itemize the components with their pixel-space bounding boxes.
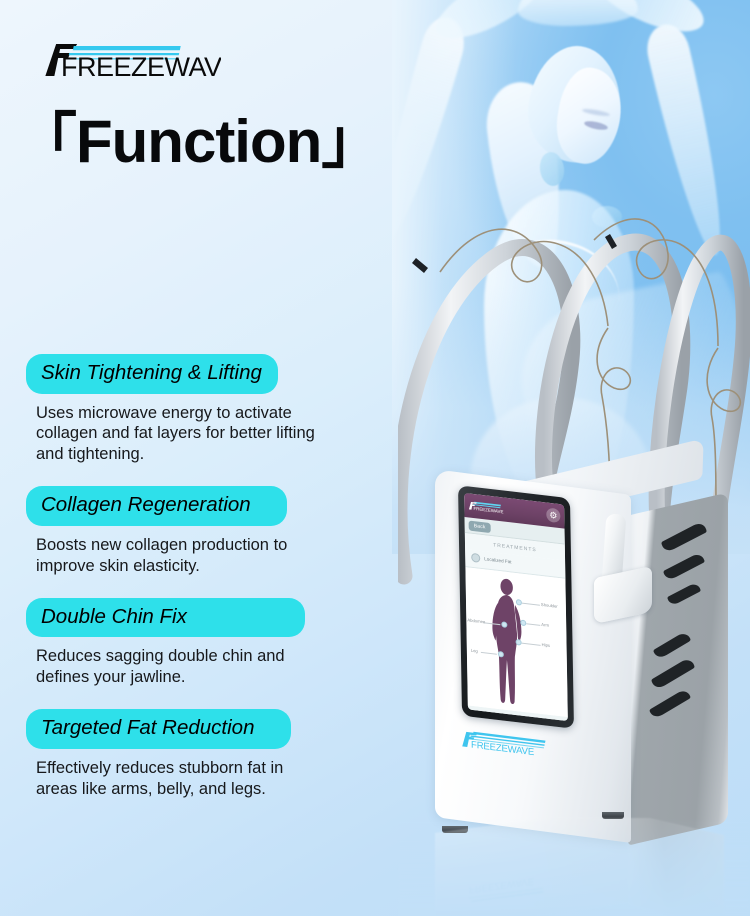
feature-description-targeted-fat-reduction: Effectively reduces stubborn fat in area… <box>26 758 316 800</box>
body-point-abdomen[interactable] <box>501 621 507 628</box>
back-button[interactable]: Back <box>469 520 491 533</box>
body-point-leg[interactable] <box>498 651 504 658</box>
freezewave-logo-svg: FREEZEWAVE <box>31 40 221 80</box>
logo-line-1 <box>73 46 181 50</box>
body-label-abdomen: Abdomen <box>467 617 485 624</box>
feature-item-double-chin-fix: Double Chin Fix Reduces sagging double c… <box>26 598 356 688</box>
freezewave-device: FREEZEWAVE ⚙ Back TREATMENTS Localized F… <box>398 196 750 916</box>
page-title: 「Function」 <box>17 112 380 172</box>
screen-freezewave-logo: FREEZEWAVE <box>468 499 506 515</box>
treatment-list-item-label: Localized Fat <box>484 556 511 564</box>
feature-description-double-chin-fix: Reduces sagging double chin and defines … <box>26 646 316 688</box>
logo-wordmark: FREEZEWAVE <box>61 52 221 80</box>
feature-badge-targeted-fat-reduction: Targeted Fat Reduction <box>26 709 291 749</box>
vent-slot <box>649 688 691 721</box>
feature-badge-double-chin-fix: Double Chin Fix <box>26 598 305 638</box>
gear-icon[interactable]: ⚙ <box>546 507 560 523</box>
device-touchscreen[interactable]: FREEZEWAVE ⚙ Back TREATMENTS Localized F… <box>464 493 568 721</box>
feature-badge-skin-tightening-lifting: Skin Tightening & Lifting <box>26 354 278 394</box>
vent-slot <box>661 520 707 554</box>
body-diagram[interactable]: Shoulder Arm Hips Abdomen Leg <box>465 567 567 717</box>
console-side-panel <box>628 492 728 845</box>
feature-item-skin-tightening-lifting: Skin Tightening & Lifting Uses microwave… <box>26 354 356 465</box>
body-label-shoulder: Shoulder <box>541 602 558 609</box>
device-floor-reflection: FREEZEWAVE <box>398 818 750 916</box>
freezewave-logo: FREEZEWAVE <box>31 40 221 80</box>
body-label-arm: Arm <box>541 622 549 628</box>
feature-item-targeted-fat-reduction: Targeted Fat Reduction Effectively reduc… <box>26 709 356 799</box>
reflection-fade <box>398 818 750 916</box>
feature-description-collagen-regeneration: Boosts new collagen production to improv… <box>26 535 316 577</box>
leader-line-arm <box>526 623 540 626</box>
feature-description-skin-tightening-lifting: Uses microwave energy to activate collag… <box>26 403 316 466</box>
feature-badge-collagen-regeneration: Collagen Regeneration <box>26 486 287 526</box>
radio-icon[interactable] <box>471 553 480 563</box>
vent-slot <box>663 551 705 582</box>
device-touchscreen-bezel: FREEZEWAVE ⚙ Back TREATMENTS Localized F… <box>458 485 574 728</box>
vent-slot <box>667 581 701 607</box>
promo-page: FREEZEWAVE 「Function」 Skin Tightening & … <box>0 0 750 916</box>
feature-list: Skin Tightening & Lifting Uses microwave… <box>26 354 356 800</box>
feature-item-collagen-regeneration: Collagen Regeneration Boosts new collage… <box>26 486 356 576</box>
vent-slot <box>653 630 691 660</box>
body-label-leg: Leg <box>471 648 478 654</box>
body-label-hips: Hips <box>542 642 550 648</box>
vent-slot <box>651 656 695 691</box>
